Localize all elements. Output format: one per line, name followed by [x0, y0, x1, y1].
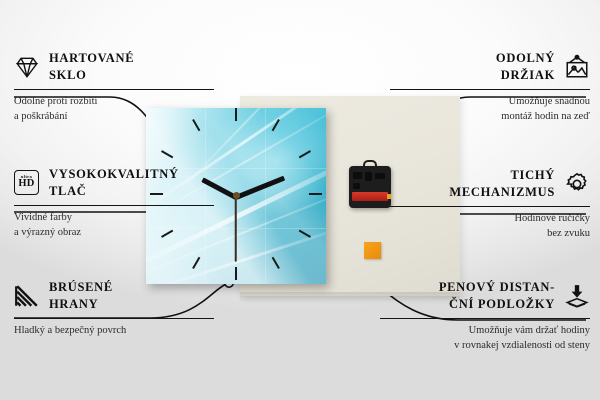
feature-desc-line2: a výrazný obraz	[14, 226, 214, 240]
feature-desc-line1: Umožňuje vám držať hodiny	[380, 324, 590, 338]
hour-marker	[192, 257, 200, 269]
feature-desc-line1: Umožňuje snadnou	[390, 95, 590, 109]
clock-center-pin	[233, 192, 240, 199]
feature-desc-line1: Hodinové ručičky	[390, 212, 590, 226]
battery	[352, 192, 388, 201]
feature-desc-line2: v rovnakej vzdialenosti od steny	[380, 339, 590, 353]
feature-title-line2: ČNÍ PODLOŽKY	[439, 296, 555, 313]
feature-hardened-glass: HARTOVANÉ SKLO Odolné proti rozbití a po…	[14, 50, 214, 124]
hour-marker	[235, 108, 237, 121]
feature-divider	[14, 89, 214, 91]
glass-grid	[265, 108, 266, 284]
feature-title-line1: TICHÝ	[449, 167, 555, 184]
feature-desc-line1: Vividné farby	[14, 211, 214, 225]
feature-silent-mechanism: TICHÝ MECHANIZMUS Hodinové ručičky bez z…	[390, 167, 590, 241]
hour-marker	[272, 257, 280, 269]
feature-desc-line2: bez zvuku	[390, 227, 590, 241]
hour-marker	[161, 150, 173, 158]
ultra-hd-icon-main: HD	[18, 179, 34, 190]
feature-title-line1: HARTOVANÉ	[49, 50, 134, 67]
hour-marker	[309, 193, 322, 195]
feature-title-line1: PENOVÝ DISTAN-	[439, 279, 555, 296]
mechanism-detail	[353, 183, 360, 189]
feature-title-line2: MECHANIZMUS	[449, 184, 555, 201]
ultra-hd-icon: ultra HD	[14, 170, 40, 196]
feature-beveled-edges: BRÚSENÉ HRANY Hladký a bezpečný povrch	[14, 279, 214, 339]
feature-title-line2: DRŽIAK	[496, 67, 555, 84]
feature-title-line2: HRANY	[49, 296, 113, 313]
feature-divider	[380, 318, 590, 320]
feature-title-line1: BRÚSENÉ	[49, 279, 113, 296]
feature-desc-line2: montáž hodin na zeď	[390, 110, 590, 124]
infographic-stage: HARTOVANÉ SKLO Odolné proti rozbití a po…	[0, 0, 600, 400]
feature-divider	[390, 206, 590, 208]
feature-title-line1: VYSOKOKVALITNÝ	[49, 166, 179, 183]
feature-divider	[14, 205, 214, 207]
feature-desc-line1: Odolné proti rozbití	[14, 95, 214, 109]
hour-marker	[299, 150, 311, 158]
hour-marker	[235, 267, 237, 280]
foam-pad-icon	[564, 283, 590, 309]
beveled-edges-icon	[14, 283, 40, 309]
foam-pad	[364, 242, 381, 259]
diamond-icon	[14, 54, 40, 80]
feature-title-line1: ODOLNÝ	[496, 50, 555, 67]
feature-title-line2: TLAČ	[49, 183, 179, 200]
gear-icon	[564, 171, 590, 197]
feature-foam-spacers: PENOVÝ DISTAN- ČNÍ PODLOŽKY Umožňuje vám…	[380, 279, 590, 353]
feature-durable-hanger: ODOLNÝ DRŽIAK Umožňuje snadnou montáž ho…	[390, 50, 590, 124]
mechanism-hanger	[363, 160, 377, 169]
picture-hanger-icon	[564, 54, 590, 80]
clock-mechanism	[349, 166, 391, 208]
feature-divider	[14, 318, 214, 320]
feature-high-quality-print: ultra HD VYSOKOKVALITNÝ TLAČ Vividné far…	[14, 166, 214, 240]
feature-desc-line1: Hladký a bezpečný povrch	[14, 324, 214, 338]
feature-title-line2: SKLO	[49, 67, 134, 84]
feature-desc-line2: a poškrábání	[14, 110, 214, 124]
hour-marker	[299, 230, 311, 238]
mechanism-detail	[375, 173, 385, 179]
mechanism-detail	[365, 172, 372, 181]
mechanism-detail	[353, 172, 362, 179]
feature-divider	[390, 89, 590, 91]
second-hand	[235, 196, 237, 262]
